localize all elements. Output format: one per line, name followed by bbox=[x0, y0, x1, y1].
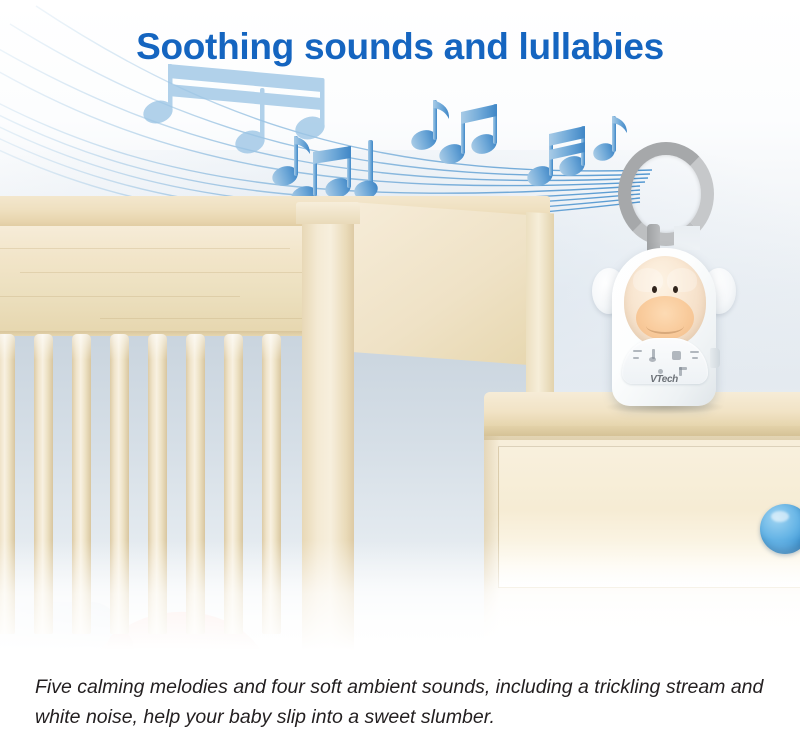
volume-up-button-mark[interactable] bbox=[692, 357, 698, 359]
monkey-eye-left bbox=[652, 286, 657, 293]
crib-post-cap bbox=[296, 202, 360, 224]
monkey-face-nightlight bbox=[624, 256, 706, 348]
hook-gap bbox=[674, 226, 700, 250]
device-side-button[interactable] bbox=[710, 348, 720, 368]
wood-grain bbox=[0, 248, 290, 249]
vtech-brand-logo: VTech bbox=[632, 374, 696, 385]
timer-button-mark[interactable] bbox=[679, 367, 687, 370]
crib-side-panel bbox=[352, 202, 548, 366]
monkey-brow-left bbox=[633, 268, 663, 292]
volume-up-button[interactable] bbox=[690, 351, 699, 353]
monkey-eye-right bbox=[673, 286, 678, 293]
monkey-brow-right bbox=[667, 268, 697, 292]
music-note-button-head[interactable] bbox=[649, 357, 656, 362]
page-title: Soothing sounds and lullabies bbox=[0, 26, 800, 68]
photo-bottom-fade bbox=[0, 540, 800, 660]
power-button[interactable] bbox=[672, 351, 681, 360]
monkey-smile bbox=[646, 318, 684, 334]
caption-text: Five calming melodies and four soft ambi… bbox=[35, 672, 771, 732]
volume-down-button-mark[interactable] bbox=[633, 357, 639, 359]
nightstand-top-edge bbox=[484, 426, 800, 440]
volume-down-button[interactable] bbox=[633, 350, 642, 352]
promo-image: VTech Soothing sounds and lullabies Five… bbox=[0, 0, 800, 736]
nursery-scene-photo: VTech bbox=[0, 0, 800, 660]
wood-grain bbox=[0, 296, 240, 297]
vtech-monkey-soother-device[interactable]: VTech bbox=[588, 142, 738, 410]
